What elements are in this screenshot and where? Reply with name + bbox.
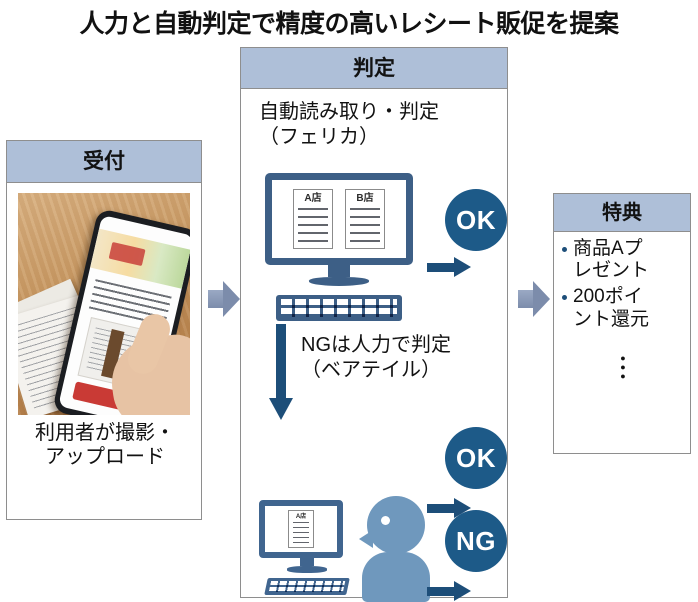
reception-caption: 利用者が撮影・ アップロード [7, 421, 203, 470]
connector-shaft [518, 290, 534, 308]
monitor-small-icon: A店 [259, 500, 343, 558]
person-body [362, 552, 430, 602]
arrow-shaft [427, 263, 455, 272]
arrow-head [454, 257, 471, 277]
receipt-card-a: A店 [293, 189, 333, 249]
auto-judge-label-line2: （フェリカ） [259, 125, 505, 150]
arrow-head [269, 398, 293, 420]
connector-shaft [208, 290, 224, 308]
benefit-item-1: 200ポイ ント還元 [560, 286, 686, 330]
panel-judge: 判定 自動読み取り・判定 （フェリカ） A店 B店 [240, 47, 508, 598]
connector-arrow-reception-to-judge [208, 281, 240, 317]
receipt-card-b-lines [350, 208, 380, 244]
monitor-icon: A店 B店 [265, 173, 413, 265]
connector-arrow-judge-to-benefit [518, 281, 550, 317]
receipt-card-b: B店 [345, 189, 385, 249]
monitor-neck [328, 265, 350, 277]
manual-judge-label: NGは人力で判定 （ベアテイル） [301, 333, 511, 383]
keyboard-small-icon [264, 578, 350, 595]
arrow-head [454, 581, 471, 601]
benefit-item-0-line2: レゼント [573, 260, 686, 282]
receipt-card-manual: A店 [288, 510, 314, 548]
arrow-down-to-manual [269, 324, 293, 420]
person-nose [359, 530, 373, 548]
badge-manual-ng: NG [445, 510, 507, 572]
arrow-shaft [427, 587, 455, 596]
keyboard-keys [281, 299, 397, 317]
person-eye [381, 516, 390, 525]
receipt-card-a-label: A店 [294, 193, 332, 204]
arrow-auto-to-ok [427, 257, 471, 277]
panel-reception-header: 受付 [7, 141, 201, 183]
monitor-screen: A店 B店 [272, 180, 406, 258]
page-title: 人力と自動判定で精度の高いレシート販促を提案 [0, 4, 698, 40]
panel-judge-header: 判定 [241, 48, 507, 89]
benefit-item-0-line1: 商品Aプ [573, 238, 686, 260]
panel-benefit: 特典 商品Aプ レゼント 200ポイ ント還元 ● ● ● [553, 193, 691, 454]
arrow-shaft [427, 504, 455, 513]
benefit-item-0: 商品Aプ レゼント [560, 238, 686, 282]
campaign-banner [90, 229, 190, 289]
benefit-item-1-line2: ント還元 [573, 309, 686, 331]
benefit-item-1-line1: 200ポイ [573, 286, 686, 308]
panel-reception: 受付 利用者が撮影・ アップロード [6, 140, 202, 520]
keyboard-icon [276, 295, 402, 321]
keyboard-small-keys [269, 581, 345, 592]
arrow-shaft [276, 324, 286, 398]
person-head [367, 496, 425, 554]
connector-head [533, 281, 550, 317]
reception-caption-line1: 利用者が撮影・ [7, 421, 203, 445]
monitor-base [309, 277, 369, 286]
manual-judge-computer: A店 [259, 500, 355, 595]
reception-caption-line2: アップロード [7, 445, 203, 469]
manual-judge-label-line1: NGは人力で判定 [301, 333, 511, 358]
monitor-small-base [287, 566, 327, 573]
receipt-card-manual-label: A店 [289, 514, 313, 521]
benefit-list: 商品Aプ レゼント 200ポイ ント還元 [560, 238, 686, 335]
receipt-card-a-lines [298, 208, 328, 244]
auto-judge-label-line1: 自動読み取り・判定 [259, 100, 505, 125]
benefit-ellipsis: ● ● ● [554, 354, 692, 381]
badge-manual-ok: OK [445, 427, 507, 489]
manual-judge-label-line2: （ベアテイル） [301, 358, 511, 383]
arrow-manual-to-ng [427, 581, 471, 601]
receipt-card-b-label: B店 [346, 193, 384, 204]
receipt-card-manual-lines [293, 522, 309, 543]
connector-head [223, 281, 240, 317]
auto-judge-label: 自動読み取り・判定 （フェリカ） [259, 100, 505, 150]
ellipsis-dot-3: ● [554, 372, 692, 381]
receipt-photo [18, 193, 190, 415]
monitor-small-neck [300, 558, 314, 566]
operator-person-icon [359, 496, 433, 600]
auto-judge-computer: A店 B店 [265, 173, 413, 321]
panel-benefit-header: 特典 [554, 194, 690, 232]
badge-auto-ok: OK [445, 189, 507, 251]
